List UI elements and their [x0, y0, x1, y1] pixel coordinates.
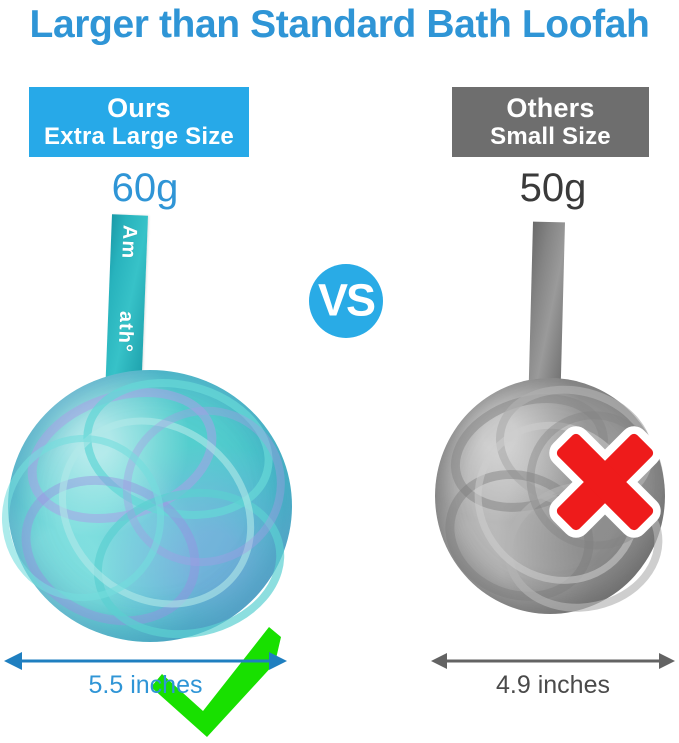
loofah-strap-ours: Am ath°	[105, 214, 148, 390]
badge-others: Others Small Size	[452, 87, 649, 157]
weight-ours: 60g	[60, 166, 230, 210]
mesh-ruffle	[0, 425, 175, 612]
badge-others-subtitle: Small Size	[490, 123, 611, 151]
vs-label: VS	[299, 278, 393, 323]
mesh-ruffle	[68, 360, 287, 538]
mesh-ruffle	[0, 450, 222, 651]
mesh-ruffle	[21, 379, 294, 648]
weight-others: 50g	[468, 166, 638, 210]
measurement-ours-label: 5.5 inches	[4, 670, 287, 700]
mesh-ruffle	[10, 365, 234, 546]
comparison-infographic: Larger than Standard Bath Loofah Ours Ex…	[0, 0, 679, 694]
badge-ours: Ours Extra Large Size	[29, 87, 249, 157]
strap-brand-text-bottom: ath°	[113, 310, 138, 353]
double-arrow-icon	[4, 650, 287, 672]
badge-others-title: Others	[506, 93, 594, 123]
mesh-ruffle	[92, 376, 316, 598]
double-arrow-icon	[431, 650, 675, 672]
measurement-ours: 5.5 inches	[4, 650, 287, 672]
vs-badge: VS	[309, 264, 383, 338]
badge-ours-subtitle: Extra Large Size	[44, 123, 234, 151]
measurement-others-label: 4.9 inches	[431, 670, 675, 700]
product-image-others	[400, 215, 679, 635]
measurement-others: 4.9 inches	[431, 650, 675, 672]
page-title: Larger than Standard Bath Loofah	[0, 2, 679, 48]
red-cross-icon	[540, 420, 670, 544]
loofah-strap-others	[529, 222, 565, 395]
strap-brand-text-top: Am	[116, 225, 140, 260]
product-image-ours: Am ath°	[0, 215, 300, 635]
loofah-ball-ours	[8, 370, 292, 642]
badge-ours-title: Ours	[107, 93, 171, 123]
